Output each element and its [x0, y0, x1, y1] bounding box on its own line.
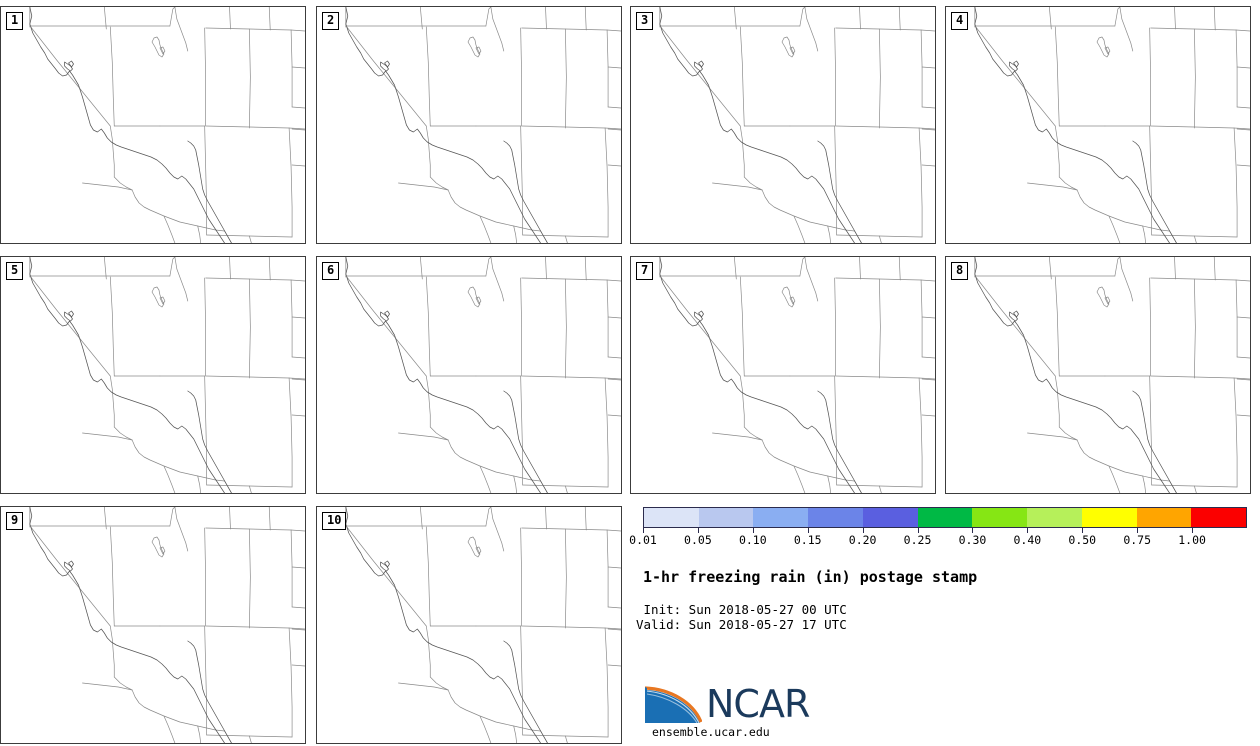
map-panel-8[interactable]: 8: [945, 256, 1251, 494]
colorbar-bin-2: [753, 508, 808, 527]
panel-number-label: 3: [636, 12, 653, 30]
panel-number-label: 2: [322, 12, 339, 30]
panel-number-label: 10: [322, 512, 346, 530]
state-borders: [975, 257, 1250, 493]
colorbar-tick-label: 0.05: [684, 533, 712, 547]
colorbar-tick-label: 0.75: [1123, 533, 1151, 547]
map-panel-5[interactable]: 5: [0, 256, 306, 494]
map-panel-4[interactable]: 4: [945, 6, 1251, 244]
ncar-swoosh-icon: [644, 682, 702, 724]
state-borders: [30, 257, 305, 493]
ncar-url-text: ensemble.ucar.edu: [652, 725, 770, 739]
colorbar-tick-label: 0.50: [1068, 533, 1096, 547]
panel-number-label: 6: [322, 262, 339, 280]
colorbar-bin-0: [644, 508, 699, 527]
ncar-logo: NCAR ensemble.ucar.edu: [644, 682, 944, 738]
map-panel-3[interactable]: 3: [630, 6, 936, 244]
figure-title: 1-hr freezing rain (in) postage stamp: [643, 568, 977, 586]
state-borders: [660, 7, 935, 243]
colorbar-bin-7: [1027, 508, 1082, 527]
coastline: [30, 507, 232, 743]
colorbar: 0.010.050.100.150.200.250.300.400.500.75…: [643, 507, 1247, 528]
coastline: [346, 257, 548, 493]
map-outline: [946, 257, 1250, 493]
colorbar-tick-label: 1.00: [1178, 533, 1206, 547]
colorbar-tick-label: 0.10: [739, 533, 767, 547]
colorbar-bin-5: [918, 508, 973, 527]
map-outline: [631, 7, 935, 243]
colorbar-bin-6: [972, 508, 1027, 527]
map-panel-9[interactable]: 9: [0, 506, 306, 744]
panel-number-label: 4: [951, 12, 968, 30]
state-borders: [30, 507, 305, 743]
state-borders: [346, 257, 621, 493]
colorbar-tick-label: 0.20: [849, 533, 877, 547]
state-borders: [346, 507, 621, 743]
panel-number-label: 8: [951, 262, 968, 280]
valid-time-text: Valid: Sun 2018-05-27 17 UTC: [636, 617, 847, 632]
colorbar-tick-label: 0.40: [1014, 533, 1042, 547]
map-outline: [946, 7, 1250, 243]
coastline: [30, 7, 232, 243]
colorbar-tick-label: 0.25: [904, 533, 932, 547]
colorbar-bin-9: [1137, 508, 1192, 527]
panel-number-label: 7: [636, 262, 653, 280]
init-time-text: Init: Sun 2018-05-27 00 UTC: [636, 602, 847, 617]
colorbar-bin-3: [808, 508, 863, 527]
coastline: [660, 257, 862, 493]
map-outline: [317, 507, 621, 743]
colorbar-tick-label: 0.30: [959, 533, 987, 547]
map-outline: [1, 257, 305, 493]
colorbar-bin-8: [1082, 508, 1137, 527]
map-outline: [631, 257, 935, 493]
map-panel-2[interactable]: 2: [316, 6, 622, 244]
state-borders: [30, 7, 305, 243]
coastline: [30, 257, 232, 493]
coastline: [346, 507, 548, 743]
coastline: [346, 7, 548, 243]
panel-number-label: 1: [6, 12, 23, 30]
colorbar-tick-label: 0.01: [629, 533, 657, 547]
state-borders: [346, 7, 621, 243]
colorbar-gradient: [643, 507, 1247, 528]
colorbar-bin-4: [863, 508, 918, 527]
panel-number-label: 9: [6, 512, 23, 530]
ncar-wordmark: NCAR: [706, 684, 809, 724]
panel-number-label: 5: [6, 262, 23, 280]
map-panel-7[interactable]: 7: [630, 256, 936, 494]
map-panel-6[interactable]: 6: [316, 256, 622, 494]
map-panel-10[interactable]: 10: [316, 506, 622, 744]
legend-block: 0.010.050.100.150.200.250.300.400.500.75…: [630, 497, 1260, 746]
state-borders: [660, 257, 935, 493]
map-outline: [317, 7, 621, 243]
colorbar-bin-10: [1191, 508, 1246, 527]
colorbar-tick-label: 0.15: [794, 533, 822, 547]
colorbar-tick-labels: 0.010.050.100.150.200.250.300.400.500.75…: [643, 533, 1247, 549]
map-outline: [1, 7, 305, 243]
colorbar-bin-1: [699, 508, 754, 527]
coastline: [975, 7, 1177, 243]
coastline: [975, 257, 1177, 493]
map-panel-1[interactable]: 1: [0, 6, 306, 244]
state-borders: [975, 7, 1250, 243]
coastline: [660, 7, 862, 243]
map-outline: [1, 507, 305, 743]
map-outline: [317, 257, 621, 493]
